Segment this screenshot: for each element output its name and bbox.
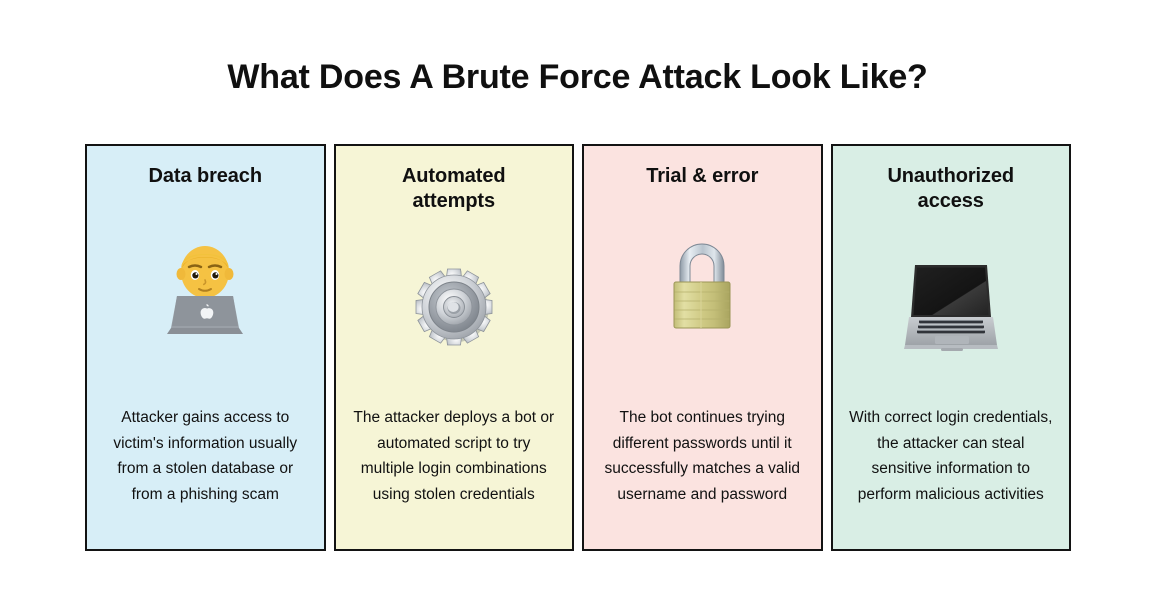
padlock-icon <box>647 227 757 337</box>
card-automated-attempts[interactable]: Automated attempts <box>334 144 575 551</box>
card-heading: Trial & error <box>646 164 758 189</box>
gear-icon <box>399 252 509 362</box>
card-heading: Automated attempts <box>364 164 544 214</box>
card-body: The bot continues trying different passw… <box>597 405 807 535</box>
card-heading: Unauthorized access <box>861 164 1041 214</box>
laptop-icon <box>896 252 1006 362</box>
card-body: The attacker deploys a bot or automated … <box>349 405 559 535</box>
card-data-breach[interactable]: Data breach <box>85 144 326 551</box>
card-row: Data breach <box>85 144 1071 551</box>
card-unauthorized-access[interactable]: Unauthorized access <box>831 144 1072 551</box>
infographic-canvas: What Does A Brute Force Attack Look Like… <box>0 0 1155 612</box>
card-body: With correct login credentials, the atta… <box>846 405 1056 535</box>
card-trial-and-error[interactable]: Trial & error <box>582 144 823 551</box>
page-title: What Does A Brute Force Attack Look Like… <box>0 56 1155 98</box>
card-heading: Data breach <box>149 164 262 189</box>
card-body: Attacker gains access to victim's inform… <box>100 405 310 535</box>
man-technologist-icon <box>150 227 260 337</box>
